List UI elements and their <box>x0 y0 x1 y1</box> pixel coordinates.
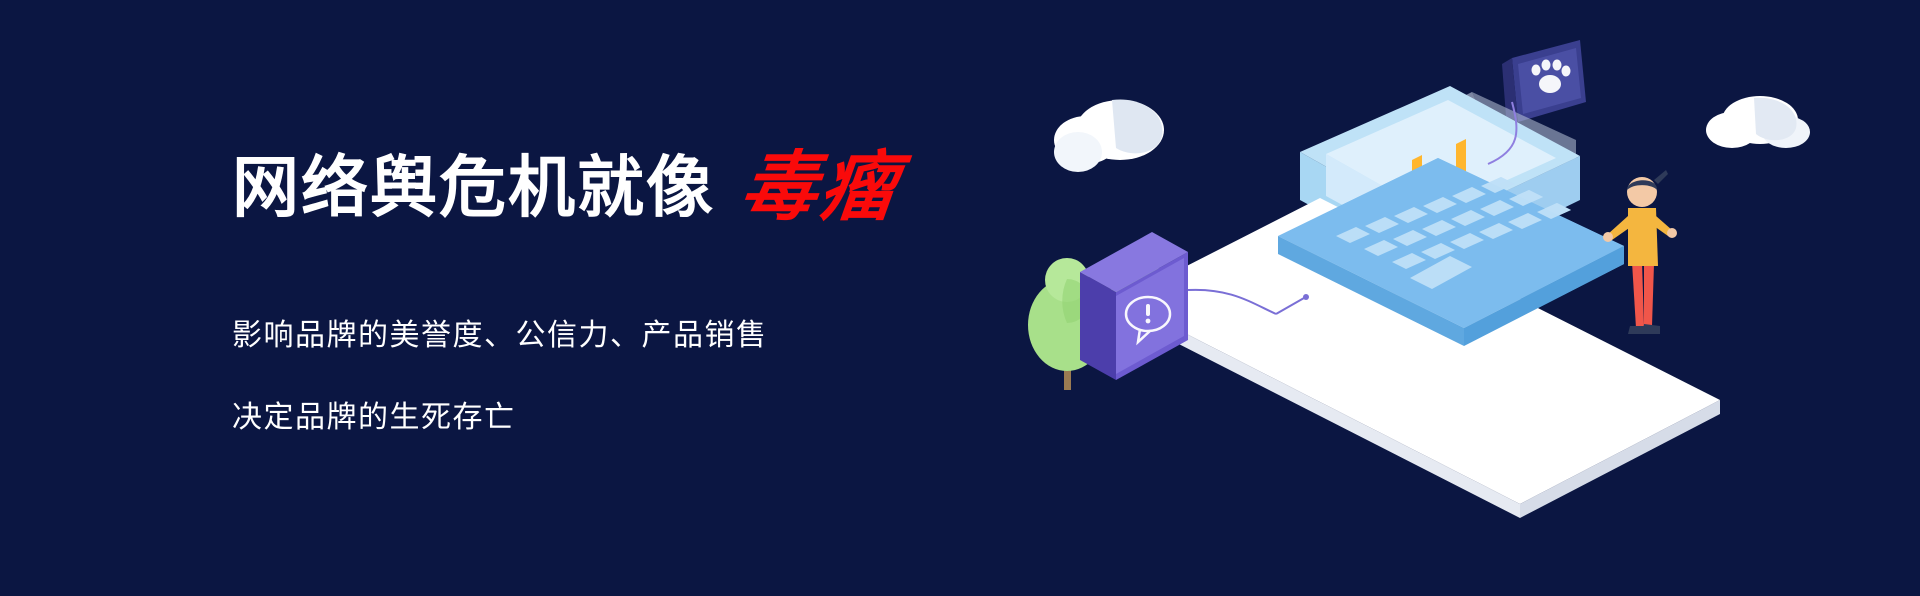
marketing-banner: 网络舆危机就像毒瘤 影响品牌的美誉度、公信力、产品销售 决定品牌的生死存亡 <box>0 0 1920 596</box>
cloud-small-icon <box>1706 96 1810 148</box>
alert-box-icon <box>1080 232 1188 380</box>
banner-text-block: 网络舆危机就像毒瘤 影响品牌的美誉度、公信力、产品销售 决定品牌的生死存亡 <box>232 150 1052 436</box>
isometric-analytics-illustration <box>1020 40 1860 560</box>
headline-accent-text: 毒瘤 <box>737 150 903 226</box>
banner-headline: 网络舆危机就像毒瘤 <box>232 150 1052 226</box>
cloud-large-icon <box>1054 99 1164 172</box>
subtitle-line-1: 影响品牌的美誉度、公信力、产品销售 <box>232 310 1052 354</box>
headline-main-text: 网络舆危机就像 <box>232 151 715 226</box>
subtitle-line-2: 决定品牌的生死存亡 <box>232 392 1052 436</box>
